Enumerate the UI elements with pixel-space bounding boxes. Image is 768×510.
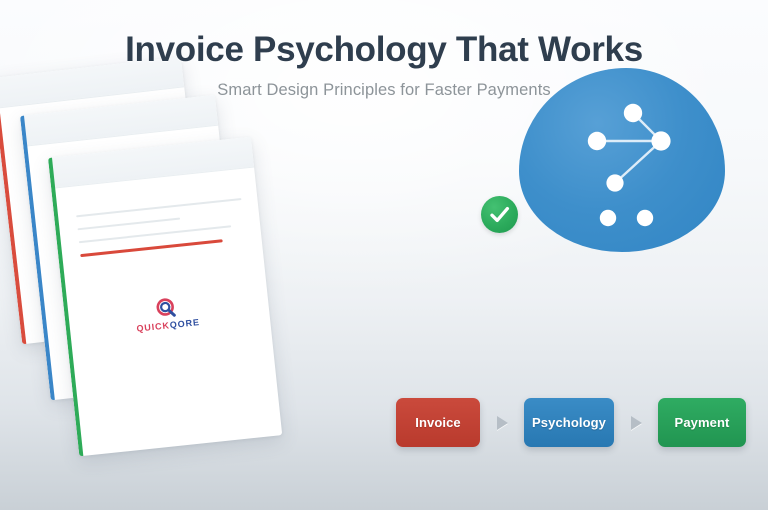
invoice-text-lines	[76, 198, 245, 257]
process-flow: Invoice Psychology Payment	[396, 398, 746, 447]
arrow-right-icon	[631, 416, 642, 430]
page-title: Invoice Psychology That Works	[0, 30, 768, 70]
wordmark-part-two: QORE	[169, 317, 200, 330]
status-badge-success	[481, 196, 518, 233]
invoice-card-front: QUICKQORE	[48, 137, 282, 457]
network-node	[606, 174, 623, 191]
flow-arrow-1	[480, 416, 524, 430]
network-node	[651, 131, 670, 150]
quickqore-q-mark-icon	[153, 295, 179, 321]
network-node	[624, 104, 642, 122]
wordmark-part-one: QUICK	[136, 320, 170, 333]
invoice-document-stack: QUICKQORE	[0, 72, 308, 452]
flow-step-psychology[interactable]: Psychology	[524, 398, 614, 447]
invoice-text-line	[76, 198, 241, 217]
flow-step-payment[interactable]: Payment	[658, 398, 746, 447]
arrow-right-icon	[497, 416, 508, 430]
network-node	[588, 132, 606, 150]
network-node	[637, 210, 653, 226]
flow-step-invoice[interactable]: Invoice	[396, 398, 480, 447]
headline-block: Invoice Psychology That Works Smart Desi…	[0, 30, 768, 100]
invoice-text-line	[78, 218, 181, 231]
slide-canvas: QUICKQORE Invoice	[0, 0, 768, 510]
checkmark-icon	[481, 196, 518, 233]
flow-arrow-2	[614, 416, 658, 430]
invoice-accent-rule	[80, 239, 222, 256]
network-node	[600, 210, 616, 226]
page-subtitle: Smart Design Principles for Faster Payme…	[0, 81, 768, 100]
quickqore-logo: QUICKQORE	[105, 290, 228, 336]
